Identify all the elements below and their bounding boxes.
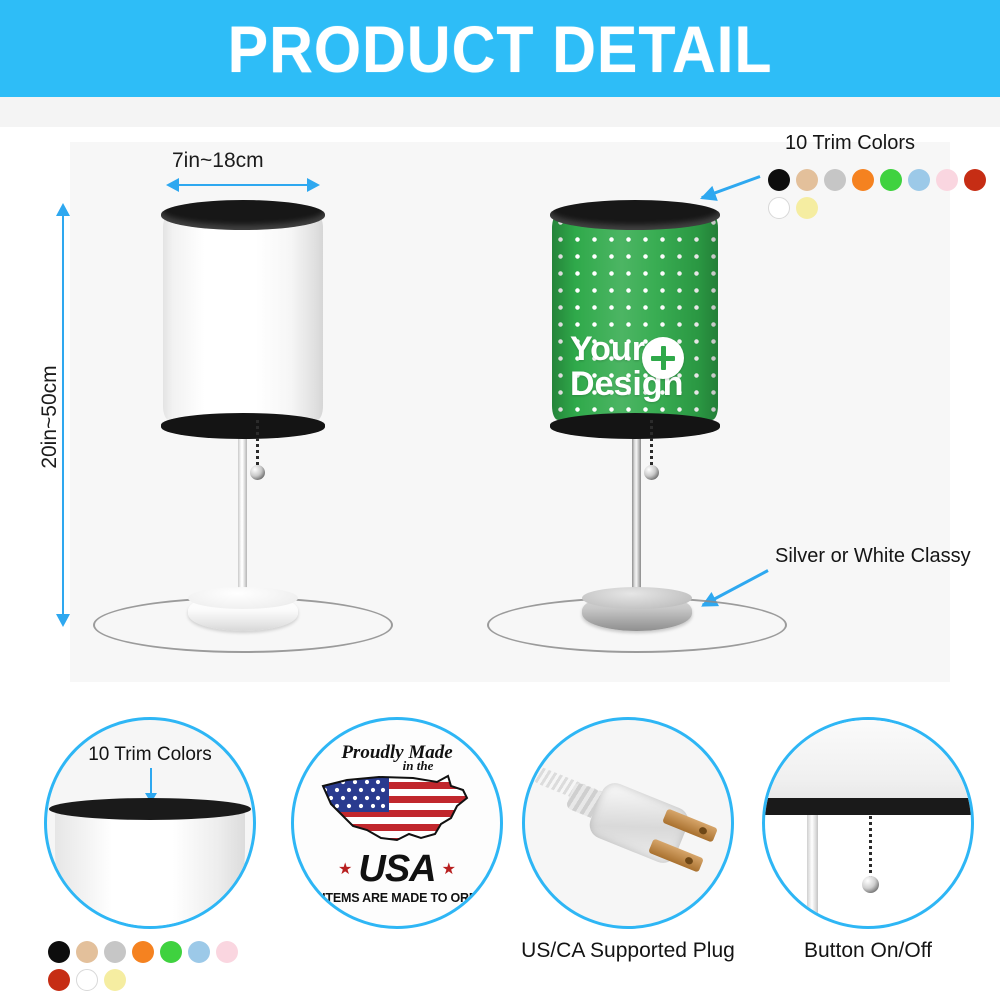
page-title: PRODUCT DETAIL xyxy=(228,11,773,87)
shade-surface xyxy=(163,214,323,420)
feature-button-on-off-caption: Button On/Off xyxy=(760,939,976,963)
swatch-pink[interactable] xyxy=(936,169,958,191)
trim-colors-callout-label: 10 Trim Colors xyxy=(785,132,915,155)
star-icon-left: ★ xyxy=(338,859,352,879)
shade-trim-bottom xyxy=(550,413,720,439)
swatch-green[interactable] xyxy=(880,169,902,191)
swatch-black[interactable] xyxy=(768,169,790,191)
lamp-height-label: 20in~50cm xyxy=(38,347,62,487)
pull-chain[interactable] xyxy=(256,420,259,468)
lamp-pole-closeup xyxy=(807,815,818,929)
product-detail-infographic: PRODUCT DETAIL 7in~18cm 20in~50cm xyxy=(0,0,1000,1000)
swatch-green[interactable] xyxy=(160,941,182,963)
shade-width-label: 7in~18cm xyxy=(172,149,264,173)
feature-row: 10 Trim Colors Proudly Made in the xyxy=(0,713,1000,1000)
feature-trim-colors[interactable]: 10 Trim Colors xyxy=(44,717,256,929)
swatch-orange[interactable] xyxy=(852,169,874,191)
star-icon-right: ★ xyxy=(442,859,456,879)
lamp-base-top xyxy=(582,587,692,609)
pull-chain-ball[interactable] xyxy=(250,465,265,480)
lamp-shade-green: Your Design xyxy=(552,200,718,430)
feature-us-ca-plug[interactable] xyxy=(522,717,734,929)
plus-icon xyxy=(642,337,684,379)
shade-trim-closeup xyxy=(49,798,251,820)
header-banner: PRODUCT DETAIL xyxy=(0,0,1000,97)
trim-colors-swatch-row[interactable] xyxy=(768,169,1000,219)
usa-text: USA xyxy=(358,848,435,891)
feature-trim-colors-swatches[interactable] xyxy=(48,941,263,991)
your-design-text: Your Design xyxy=(552,332,718,401)
shade-trim-bottom xyxy=(161,413,325,439)
feature-trim-colors-label: 10 Trim Colors xyxy=(88,744,212,766)
banner-underline xyxy=(0,97,1000,127)
usa-proudly-made-text: Proudly Made xyxy=(341,742,452,764)
swatch-red[interactable] xyxy=(964,169,986,191)
swatch-tan[interactable] xyxy=(76,941,98,963)
pull-chain[interactable] xyxy=(650,420,653,468)
swatch-red[interactable] xyxy=(48,969,70,991)
lamp-pole xyxy=(632,427,641,612)
swatch-gray[interactable] xyxy=(824,169,846,191)
swatch-tan[interactable] xyxy=(796,169,818,191)
usa-flag-map-icon xyxy=(317,768,477,852)
usa-badge: Proudly Made in the xyxy=(294,720,500,926)
swatch-light-blue[interactable] xyxy=(908,169,930,191)
feature-button-on-off[interactable] xyxy=(762,717,974,929)
shade-surface: Your Design xyxy=(552,214,718,420)
feature-made-in-usa[interactable]: Proudly Made in the xyxy=(291,717,503,929)
swatch-white[interactable] xyxy=(768,197,790,219)
main-stage: 7in~18cm 20in~50cm You xyxy=(0,127,1000,713)
shade-trim-top xyxy=(161,200,325,230)
swatch-black[interactable] xyxy=(48,941,70,963)
down-arrow-icon xyxy=(150,768,152,794)
lamp-pole xyxy=(238,427,247,612)
pull-chain-closeup[interactable] xyxy=(869,816,872,878)
lamp-base-top xyxy=(188,587,298,609)
lamp-shade-white xyxy=(163,200,323,430)
shade-trim-top xyxy=(550,200,720,230)
swatch-orange[interactable] xyxy=(132,941,154,963)
swatch-white[interactable] xyxy=(76,969,98,991)
base-finish-callout-label: Silver or White Classy xyxy=(775,545,971,568)
lamp-height-arrow xyxy=(62,215,64,615)
pull-chain-ball-closeup[interactable] xyxy=(862,876,879,893)
shade-trim-closeup xyxy=(762,798,974,815)
shade-closeup xyxy=(762,717,974,806)
design-line-2: Design xyxy=(570,367,718,402)
shade-body-closeup xyxy=(55,808,245,929)
swatch-yellow[interactable] xyxy=(104,969,126,991)
feature-us-ca-plug-caption: US/CA Supported Plug xyxy=(502,939,754,963)
usa-made-to-order-text: ALL ITEMS ARE MADE TO ORDER! xyxy=(295,891,498,905)
shade-width-arrow xyxy=(178,184,308,186)
pull-chain-ball[interactable] xyxy=(644,465,659,480)
swatch-light-blue[interactable] xyxy=(188,941,210,963)
swatch-pink[interactable] xyxy=(216,941,238,963)
swatch-gray[interactable] xyxy=(104,941,126,963)
swatch-yellow[interactable] xyxy=(796,197,818,219)
